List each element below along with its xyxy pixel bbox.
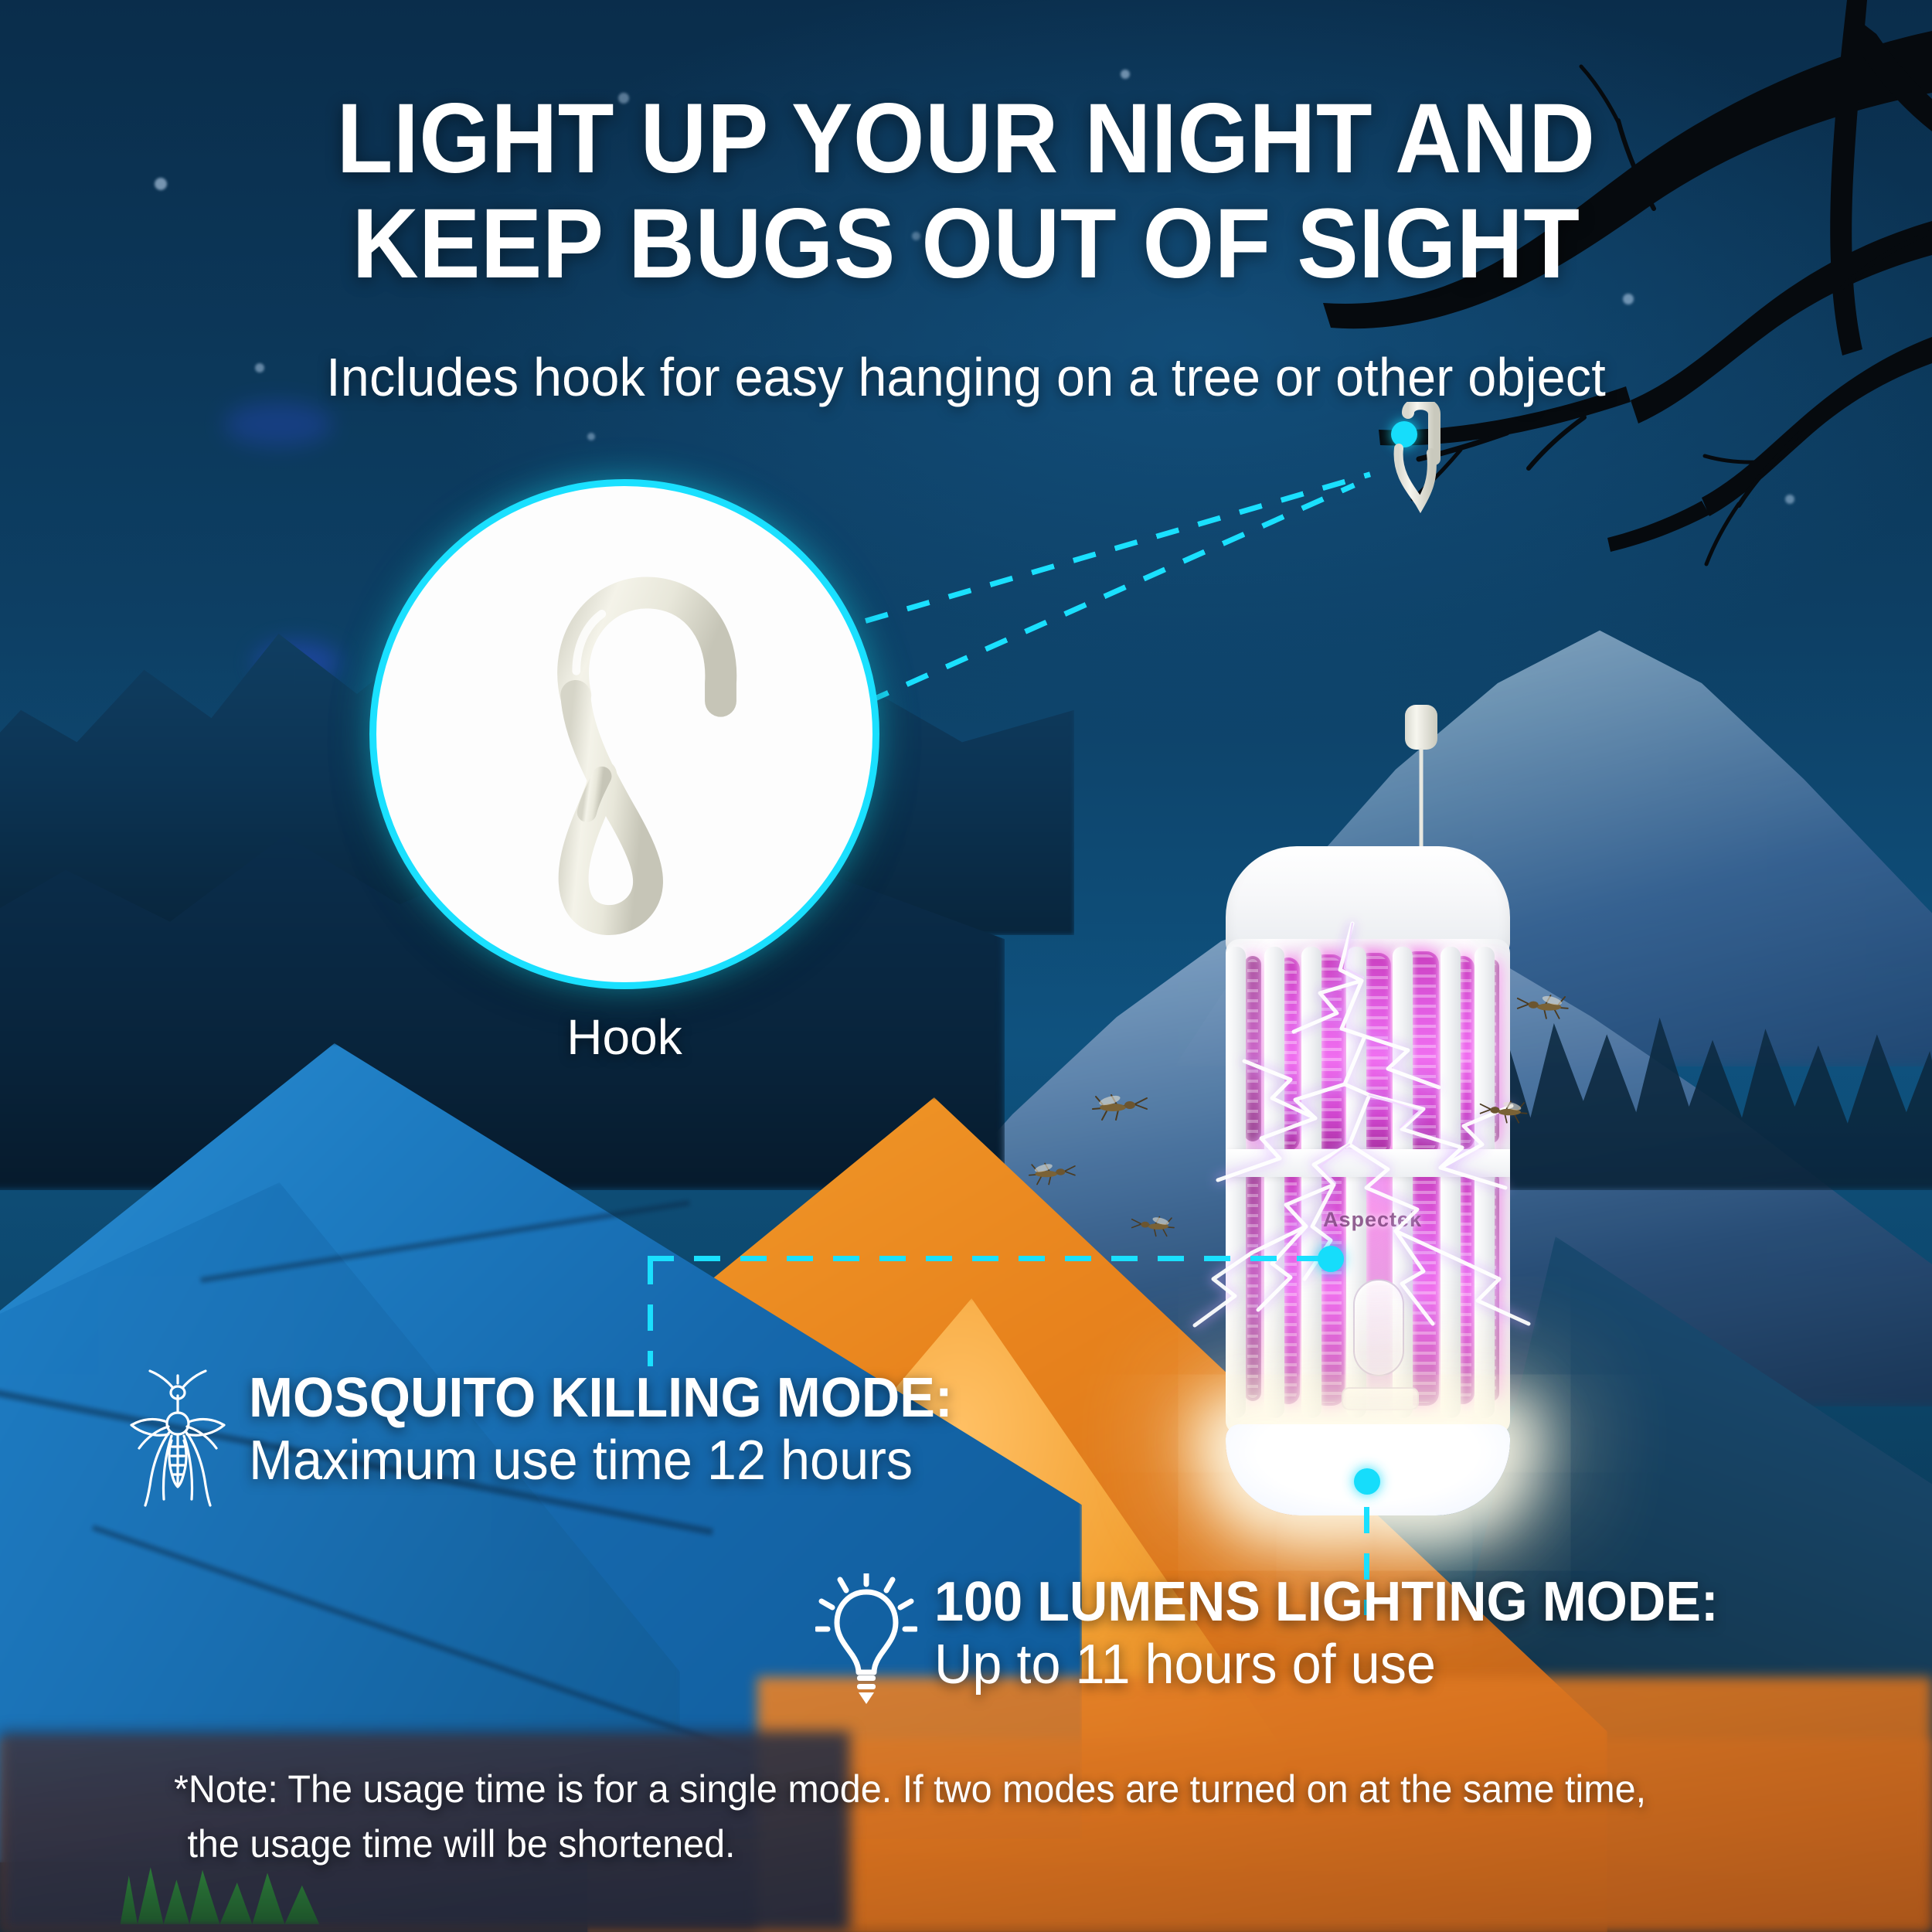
usb-port-cover[interactable] bbox=[1342, 1387, 1419, 1410]
brand-mark: Aspectek bbox=[1226, 1208, 1510, 1232]
mosquito-mode-anchor-dot bbox=[1318, 1246, 1344, 1272]
s-hook-icon bbox=[376, 486, 872, 982]
hanging-hook-icon bbox=[1360, 402, 1499, 881]
lamp-rib bbox=[1264, 947, 1284, 1418]
lamp-rib bbox=[1440, 947, 1461, 1418]
note-line-2: the usage time will be shortened. bbox=[174, 1817, 1808, 1872]
lamp-rib bbox=[1226, 947, 1246, 1418]
headline-line-2: KEEP BUGS OUT OF SIGHT bbox=[68, 192, 1865, 297]
usage-note: *Note: The usage time is for a single mo… bbox=[174, 1762, 1808, 1872]
feature-title: 100 LUMENS LIGHTING MODE: bbox=[934, 1573, 1719, 1631]
leader-vertical bbox=[648, 1258, 653, 1366]
page-subtitle: Includes hook for easy hanging on a tree… bbox=[49, 346, 1884, 408]
mode-button[interactable] bbox=[1353, 1279, 1404, 1376]
mosquito-icon bbox=[124, 1369, 232, 1509]
bug-zapper-lamp: Aspectek bbox=[1221, 846, 1515, 1511]
page-title: LIGHT UP YOUR NIGHT AND KEEP BUGS OUT OF… bbox=[68, 87, 1865, 296]
uv-slot bbox=[1244, 1171, 1261, 1401]
feature-title: MOSQUITO KILLING MODE: bbox=[249, 1369, 953, 1427]
lamp-rib bbox=[1301, 947, 1321, 1418]
note-line-1: *Note: The usage time is for a single mo… bbox=[174, 1762, 1808, 1817]
feature-subtitle: Up to 11 hours of use bbox=[934, 1631, 1719, 1699]
lightbulb-icon bbox=[815, 1573, 917, 1705]
feature-text-block: 100 LUMENS LIGHTING MODE: Up to 11 hours… bbox=[934, 1573, 1760, 1699]
leader-horizontal bbox=[648, 1256, 1328, 1261]
feature-mosquito-killing-mode: MOSQUITO KILLING MODE: Maximum use time … bbox=[124, 1369, 990, 1509]
feature-subtitle: Maximum use time 12 hours bbox=[249, 1427, 953, 1495]
lamp-mid-band bbox=[1226, 1149, 1510, 1177]
feature-text-block: MOSQUITO KILLING MODE: Maximum use time … bbox=[249, 1369, 990, 1495]
headline-line-1: LIGHT UP YOUR NIGHT AND bbox=[68, 87, 1865, 192]
hook-callout-label: Hook bbox=[369, 1009, 879, 1066]
hook-callout-circle bbox=[369, 479, 879, 989]
product-infographic: LIGHT UP YOUR NIGHT AND KEEP BUGS OUT OF… bbox=[0, 0, 1932, 1932]
feature-lighting-mode: 100 LUMENS LIGHTING MODE: Up to 11 hours… bbox=[815, 1573, 1760, 1705]
lamp-body: Aspectek bbox=[1226, 939, 1510, 1434]
lamp-rib bbox=[1475, 947, 1495, 1418]
lighting-mode-anchor-dot bbox=[1354, 1468, 1380, 1495]
uv-slot bbox=[1244, 956, 1261, 1141]
